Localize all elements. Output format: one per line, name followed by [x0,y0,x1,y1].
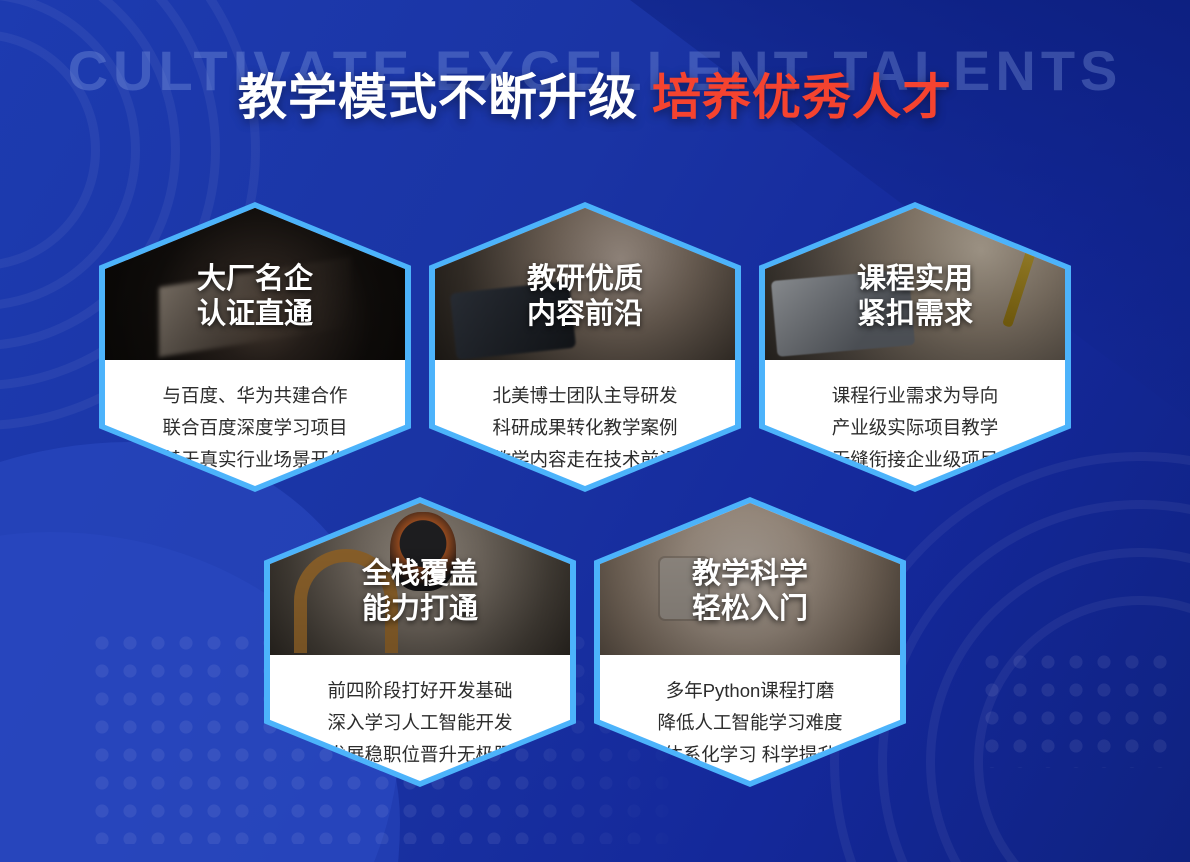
card-image-desk-study: 教研优质 内容前沿 [435,208,735,360]
card-title-line1: 课程实用 [857,262,973,297]
feature-card-practical-course[interactable]: 课程实用 紧扣需求 课程行业需求为导向 产业级实际项目教学 无缝衔接企业级项目 [759,202,1071,492]
card-body-line: 教学内容走在技术前沿 [492,444,677,476]
feature-card-grid: 大厂名企 认证直通 与百度、华为共建合作 联合百度深度学习项目 基于真实行业场景… [0,0,1190,862]
card-title-line2: 认证直通 [197,297,313,332]
card-body-line: 北美博士团队主导研发 [492,380,677,412]
card-body-line: 与百度、华为共建合作 [162,380,347,412]
feature-card-research-quality[interactable]: 教研优质 内容前沿 北美博士团队主导研发 科研成果转化教学案例 教学内容走在技术… [429,202,741,492]
card-body-line: 降低人工智能学习难度 [657,707,842,739]
card-title: 课程实用 紧扣需求 [857,236,973,333]
feature-card-fullstack-coverage[interactable]: 全栈覆盖 能力打通 前四阶段打好开发基础 深入学习人工智能开发 发展稳职位晋升无… [264,497,576,787]
card-body-line: 基于真实行业场景开发 [162,444,347,476]
card-title-line2: 紧扣需求 [857,297,973,332]
card-title-line2: 能力打通 [362,592,478,627]
card-body: 课程行业需求为导向 产业级实际项目教学 无缝衔接企业级项目 [765,360,1065,486]
card-body: 与百度、华为共建合作 联合百度深度学习项目 基于真实行业场景开发 [105,360,405,486]
card-image-notes-laptop: 课程实用 紧扣需求 [765,208,1065,360]
card-title-line1: 教研优质 [527,262,643,297]
card-title-line1: 全栈覆盖 [362,557,478,592]
card-title-line1: 大厂名企 [197,262,313,297]
card-image-handshake: 大厂名企 认证直通 [105,208,405,360]
card-title: 大厂名企 认证直通 [197,236,313,333]
card-body-line: 发展稳职位晋升无极限 [327,739,512,771]
card-body-line: 科研成果转化教学案例 [492,412,677,444]
card-image-puzzle-hands: 教学科学 轻松入门 [600,503,900,655]
card-title: 全栈覆盖 能力打通 [362,531,478,628]
feature-card-brand-enterprise[interactable]: 大厂名企 认证直通 与百度、华为共建合作 联合百度深度学习项目 基于真实行业场景… [99,202,411,492]
card-body-line: 前四阶段打好开发基础 [327,675,512,707]
card-body-line: 深入学习人工智能开发 [327,707,512,739]
card-image-robot-lab: 全栈覆盖 能力打通 [270,503,570,655]
card-body-line: 多年Python课程打磨 [666,675,835,707]
poster-canvas: CULTIVATE EXCELLENT TALENTS 教学模式不断升级培养优秀… [0,0,1190,862]
feature-card-scientific-teaching[interactable]: 教学科学 轻松入门 多年Python课程打磨 降低人工智能学习难度 体系化学习 … [594,497,906,787]
card-title: 教学科学 轻松入门 [692,531,808,628]
card-title: 教研优质 内容前沿 [527,236,643,333]
card-body-line: 体系化学习 科学提升 [664,739,836,771]
card-body: 北美博士团队主导研发 科研成果转化教学案例 教学内容走在技术前沿 [435,360,735,486]
card-title-line1: 教学科学 [692,557,808,592]
card-body-line: 课程行业需求为导向 [832,380,999,412]
card-title-line2: 内容前沿 [527,297,643,332]
card-body-line: 产业级实际项目教学 [832,412,999,444]
card-body-line: 联合百度深度学习项目 [162,412,347,444]
card-title-line2: 轻松入门 [692,592,808,627]
card-body: 前四阶段打好开发基础 深入学习人工智能开发 发展稳职位晋升无极限 [270,655,570,781]
card-body: 多年Python课程打磨 降低人工智能学习难度 体系化学习 科学提升 [600,655,900,781]
card-body-line: 无缝衔接企业级项目 [832,444,999,476]
